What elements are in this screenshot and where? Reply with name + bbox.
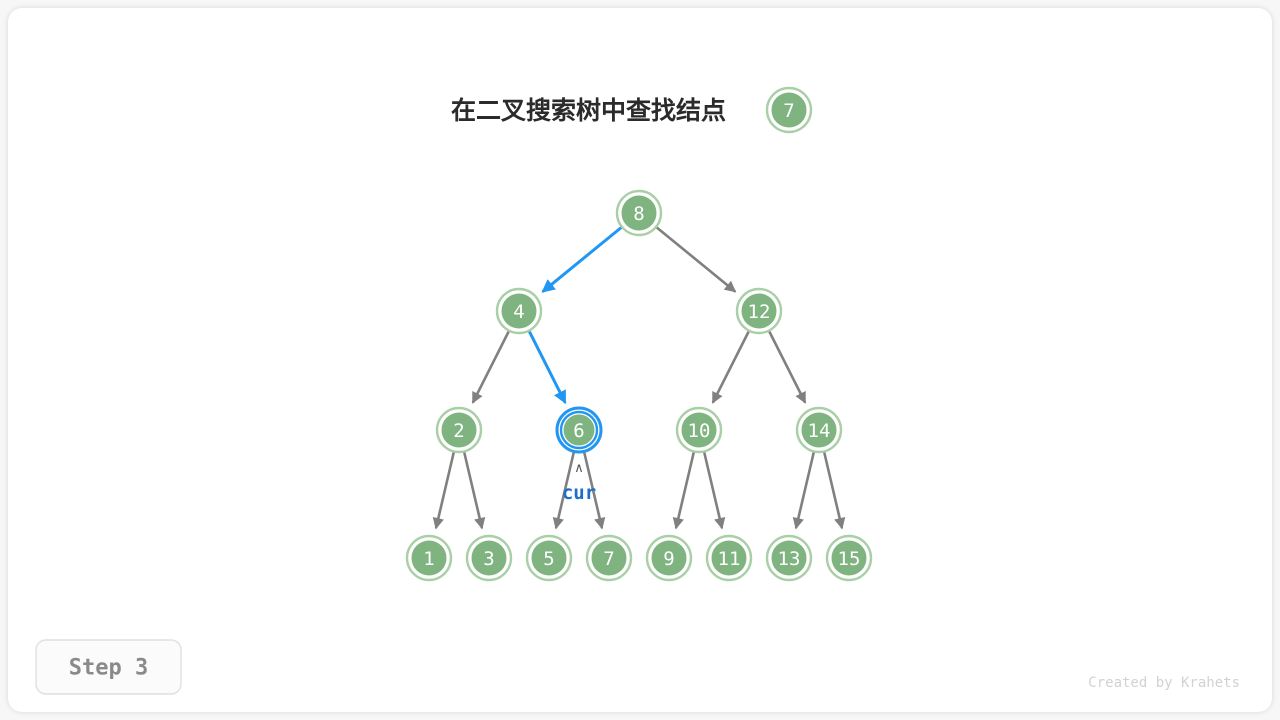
step-badge: Step 3 <box>36 640 181 694</box>
tree-node[interactable]: 11 <box>707 536 751 580</box>
tree-edge <box>824 453 841 527</box>
page-title: 在二叉搜索树中查找结点 <box>451 96 726 125</box>
tree-node[interactable]: 4 <box>497 289 541 333</box>
node-value: 15 <box>838 548 861 570</box>
tree-node[interactable]: 5 <box>527 536 571 580</box>
node-value: 3 <box>483 548 494 570</box>
node-value: 11 <box>718 548 741 570</box>
tree-edge <box>704 453 721 527</box>
edge-layer <box>436 228 842 527</box>
tree-edge <box>464 453 481 527</box>
node-value: 1 <box>423 548 434 570</box>
tree-edge <box>796 453 813 527</box>
tree-edge <box>676 453 693 527</box>
tree-node[interactable]: 13 <box>767 536 811 580</box>
node-value: 10 <box>688 420 711 442</box>
node-value: 5 <box>543 548 554 570</box>
cur-pointer: ∧ cur <box>562 461 596 504</box>
tree-edge <box>543 228 620 291</box>
cur-pointer-label: cur <box>562 482 596 504</box>
tree-node[interactable]: 7 <box>587 536 631 580</box>
node-value: 4 <box>513 301 524 323</box>
tree-edge <box>770 332 805 402</box>
tree-edge <box>713 332 748 402</box>
node-value: 8 <box>633 203 644 225</box>
tree-node[interactable]: 3 <box>467 536 511 580</box>
tree-node[interactable]: 14 <box>797 408 841 452</box>
credit-label: Created by Krahets <box>1088 675 1240 691</box>
tree-diagram: 841226101413579111315 在二叉搜索树中查找结点 7 ∧ cu… <box>8 8 1272 712</box>
node-value: 6 <box>573 420 584 442</box>
tree-node[interactable]: 12 <box>737 289 781 333</box>
caret-icon: ∧ <box>574 461 584 476</box>
node-value: 12 <box>748 301 771 323</box>
tree-edge <box>530 332 565 402</box>
tree-edge <box>436 453 453 527</box>
node-value: 14 <box>808 420 831 442</box>
node-value: 13 <box>778 548 801 570</box>
tree-node[interactable]: 1 <box>407 536 451 580</box>
step-badge-label: Step 3 <box>69 656 148 681</box>
tree-node[interactable]: 8 <box>617 191 661 235</box>
node-layer: 841226101413579111315 <box>407 191 871 580</box>
node-value: 9 <box>663 548 674 570</box>
tree-edge <box>657 228 734 291</box>
tree-node[interactable]: 6 <box>557 408 601 452</box>
target-value-badge: 7 <box>767 88 811 132</box>
tree-node[interactable]: 2 <box>437 408 481 452</box>
tree-node[interactable]: 10 <box>677 408 721 452</box>
figure-card: 841226101413579111315 在二叉搜索树中查找结点 7 ∧ cu… <box>8 8 1272 712</box>
badge-value: 7 <box>783 100 794 122</box>
node-value: 7 <box>603 548 614 570</box>
tree-node[interactable]: 15 <box>827 536 871 580</box>
tree-edge <box>473 332 508 402</box>
tree-node[interactable]: 9 <box>647 536 691 580</box>
node-value: 2 <box>453 420 464 442</box>
